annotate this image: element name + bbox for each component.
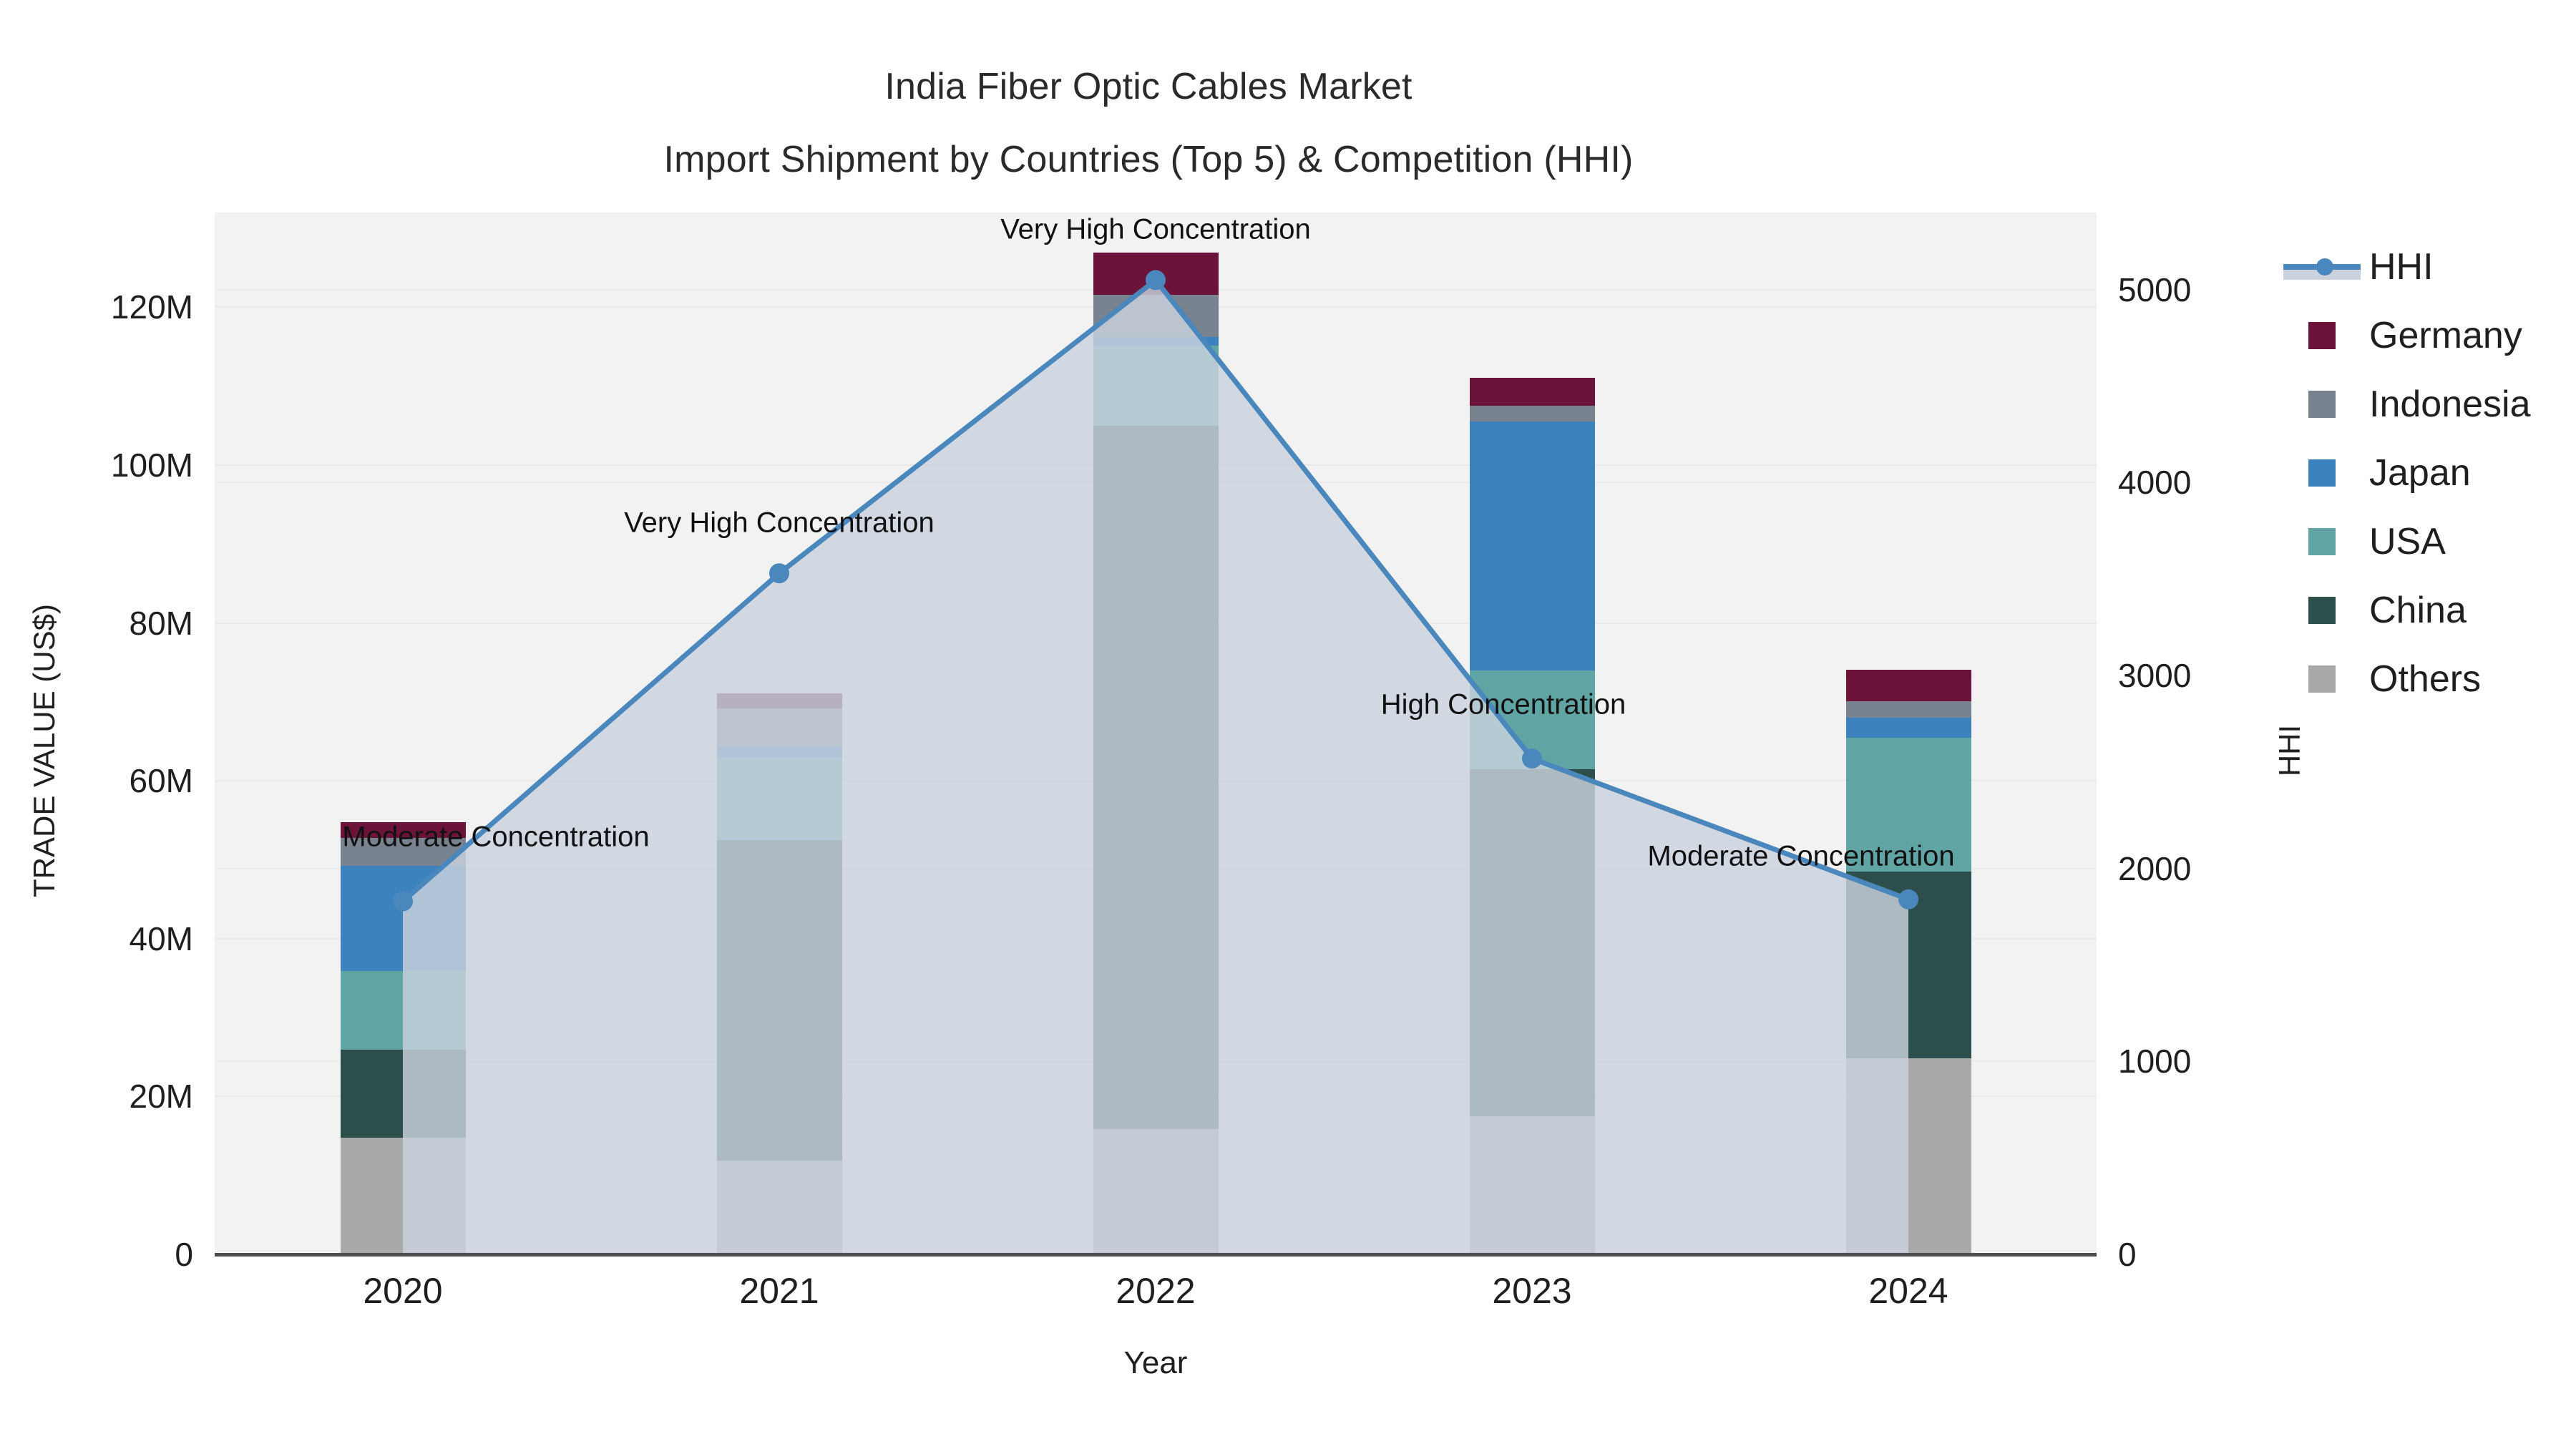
legend-marker-dot bbox=[2316, 258, 2333, 275]
y-axis-left-tick-label: 20M bbox=[0, 1077, 193, 1116]
y-axis-left-tick-label: 120M bbox=[0, 288, 193, 326]
x-axis-tick-label: 2024 bbox=[1801, 1270, 2016, 1312]
hhi-point-2023[interactable] bbox=[1522, 748, 1542, 769]
legend-line-key-icon bbox=[2283, 253, 2361, 281]
y-axis-right-tick-label: 3000 bbox=[2118, 656, 2290, 695]
chart-canvas: India Fiber Optic Cables Market Import S… bbox=[0, 0, 2576, 1449]
legend-item-japan[interactable]: Japan bbox=[2279, 439, 2572, 507]
legend-item-germany[interactable]: Germany bbox=[2279, 301, 2572, 370]
y-axis-left-tick-label: 100M bbox=[0, 446, 193, 484]
x-axis-tick-label: 2022 bbox=[1048, 1270, 1263, 1312]
legend-label: Indonesia bbox=[2365, 383, 2531, 426]
hhi-point-2024[interactable] bbox=[1898, 889, 1918, 909]
legend-swatch-others-icon bbox=[2308, 665, 2336, 693]
y-axis-right-tick-label: 5000 bbox=[2118, 270, 2290, 309]
y-axis-left-tick-label: 40M bbox=[0, 919, 193, 958]
x-axis-tick-label: 2023 bbox=[1425, 1270, 1639, 1312]
legend-item-usa[interactable]: USA bbox=[2279, 507, 2572, 576]
hhi-line-overlay bbox=[215, 213, 2097, 1254]
legend-label: USA bbox=[2365, 520, 2446, 563]
y-axis-right-tick-label: 2000 bbox=[2118, 849, 2290, 888]
legend-swatch-indonesia-icon bbox=[2308, 391, 2336, 418]
y-axis-right-tick-label: 1000 bbox=[2118, 1042, 2290, 1080]
y-axis-right-tick-label: 4000 bbox=[2118, 463, 2290, 502]
x-axis-tick-label: 2020 bbox=[296, 1270, 510, 1312]
title-line-2: Import Shipment by Countries (Top 5) & C… bbox=[0, 123, 2297, 196]
title-line-1: India Fiber Optic Cables Market bbox=[0, 50, 2297, 123]
x-axis-label: Year bbox=[215, 1345, 2097, 1381]
legend-item-china[interactable]: China bbox=[2279, 576, 2572, 645]
y-axis-left-tick-label: 80M bbox=[0, 604, 193, 643]
legend-swatch-usa-icon bbox=[2308, 528, 2336, 555]
y-axis-left-tick-label: 60M bbox=[0, 761, 193, 800]
legend-label: HHI bbox=[2365, 245, 2434, 288]
page-title: India Fiber Optic Cables Market Import S… bbox=[0, 50, 2297, 196]
legend-item-indonesia[interactable]: Indonesia bbox=[2279, 370, 2572, 439]
x-axis-line bbox=[215, 1253, 2097, 1257]
legend-label: China bbox=[2365, 589, 2467, 632]
annotation-2023: High Concentration bbox=[1381, 689, 1626, 721]
legend-key-wrap bbox=[2279, 459, 2365, 487]
hhi-area-fill bbox=[403, 280, 1908, 1254]
legend-key-wrap bbox=[2279, 253, 2365, 281]
x-axis-tick-label: 2021 bbox=[672, 1270, 887, 1312]
legend-key-wrap bbox=[2279, 391, 2365, 418]
legend-label: Germany bbox=[2365, 314, 2522, 357]
legend-item-hhi[interactable]: HHI bbox=[2279, 233, 2572, 301]
annotation-2022: Very High Concentration bbox=[1000, 214, 1311, 246]
legend-swatch-japan-icon bbox=[2308, 459, 2336, 487]
legend-swatch-china-icon bbox=[2308, 597, 2336, 624]
legend: HHIGermanyIndonesiaJapanUSAChinaOthers bbox=[2279, 233, 2572, 713]
legend-item-others[interactable]: Others bbox=[2279, 645, 2572, 713]
hhi-point-2021[interactable] bbox=[769, 563, 789, 583]
legend-label: Others bbox=[2365, 658, 2481, 701]
legend-key-wrap bbox=[2279, 597, 2365, 624]
hhi-point-2020[interactable] bbox=[393, 892, 413, 912]
hhi-point-2022[interactable] bbox=[1146, 270, 1166, 290]
annotation-2024: Moderate Concentration bbox=[1647, 840, 1954, 872]
legend-swatch-germany-icon bbox=[2308, 322, 2336, 349]
legend-key-wrap bbox=[2279, 528, 2365, 555]
y-axis-right-tick-label: 0 bbox=[2118, 1235, 2290, 1274]
y-axis-left-tick-label: 0 bbox=[0, 1235, 193, 1274]
annotation-2021: Very High Concentration bbox=[624, 507, 935, 540]
legend-label: Japan bbox=[2365, 452, 2471, 494]
legend-key-wrap bbox=[2279, 322, 2365, 349]
plot-area: Moderate ConcentrationVery High Concentr… bbox=[215, 213, 2097, 1254]
legend-key-wrap bbox=[2279, 665, 2365, 693]
annotation-2020: Moderate Concentration bbox=[342, 821, 649, 853]
